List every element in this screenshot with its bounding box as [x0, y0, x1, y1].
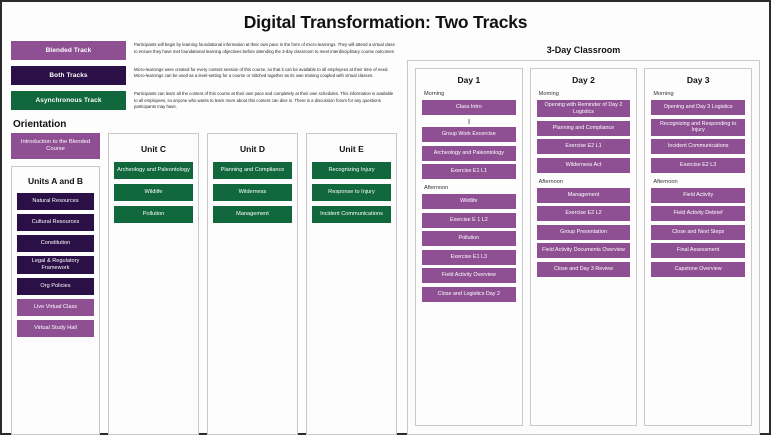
- day-3-afternoon-item-field-activity[interactable]: Field Activity: [651, 188, 745, 203]
- day-1-morning-label: Morning: [424, 91, 516, 97]
- unit-columns: Introduction to the Blended Course Units…: [11, 133, 397, 435]
- unit-card-e: Unit E Recognizing Injury Response to In…: [306, 133, 397, 435]
- classroom-heading: 3-Day Classroom: [407, 41, 760, 60]
- day-2-afternoon-list: Management Exercise E2 L2 Group Presenta…: [537, 188, 631, 277]
- day-3-title: Day 3: [651, 75, 745, 85]
- day-3-morning-list: Opening and Day 3 Logistics Recognizing …: [651, 100, 745, 173]
- unit-c-item-archeology-paleontology[interactable]: Archeology and Paleontology: [114, 162, 193, 179]
- day-3-afternoon-list: Field Activity Field Activity Debrief Cl…: [651, 188, 745, 277]
- day-2-morning-label: Morning: [539, 91, 631, 97]
- units-ab-item-constitution[interactable]: Constitution: [17, 235, 94, 252]
- day-2-afternoon-item-field-activity-documents-overview[interactable]: Field Activity Documents Overview: [537, 243, 631, 258]
- day-3-morning-item-exercise-e2-l3[interactable]: Exercise E2 L3: [651, 158, 745, 173]
- unit-d-title: Unit D: [213, 144, 292, 154]
- orientation-heading: Orientation: [13, 119, 397, 130]
- day-3-afternoon-item-capstone-overview[interactable]: Capstone Overview: [651, 262, 745, 277]
- legend: Blended Track Both Tracks Asynchronous T…: [11, 41, 397, 110]
- day-1-afternoon-item-pollution[interactable]: Pollution: [422, 231, 516, 246]
- right-pane: 3-Day Classroom Day 1 Morning Class Intr…: [407, 41, 760, 435]
- day-2-morning-item-opening-reminder[interactable]: Opening with Reminder of Day 2 Logistics: [537, 100, 631, 117]
- legend-paragraph-asynchronous: Participants can learn all the content o…: [134, 91, 397, 110]
- day-1-morning-item-archeology-paleontology[interactable]: Archeology and Paleontology: [422, 146, 516, 161]
- day-1-morning-item-group-work-excercise[interactable]: Group Work Excercise: [422, 127, 516, 142]
- day-1-afternoon-item-wildlife[interactable]: Wildlife: [422, 194, 516, 209]
- legend-paragraph-both: Micro-learnings were created for every c…: [134, 67, 397, 86]
- legend-paragraph-blended: Participants will begin by learning foun…: [134, 42, 397, 61]
- day-3-morning-item-opening-logistics[interactable]: Opening and Day 3 Logistics: [651, 100, 745, 115]
- day-1-morning-item-exercise-e1-l1[interactable]: Exercise E1 L1: [422, 164, 516, 179]
- page-title: Digital Transformation: Two Tracks: [2, 2, 769, 41]
- units-ab-item-natural-resources[interactable]: Natural Resources: [17, 193, 94, 210]
- legend-descriptions: Participants will begin by learning foun…: [134, 41, 397, 110]
- day-2-morning-item-wilderness-act[interactable]: Wilderness Act: [537, 158, 631, 173]
- day-2-title: Day 2: [537, 75, 631, 85]
- unit-c-title: Unit C: [114, 144, 193, 154]
- day-2-afternoon-label: Afternoon: [539, 179, 631, 185]
- unit-e-title: Unit E: [312, 144, 391, 154]
- units-ab-item-legal-regulatory-framework[interactable]: Legal & Regulatory Framework: [17, 256, 94, 274]
- units-ab-card: Units A and B Natural Resources Cultural…: [11, 166, 100, 435]
- slide-body: Blended Track Both Tracks Asynchronous T…: [2, 41, 769, 435]
- legend-chip-both: Both Tracks: [11, 66, 126, 85]
- unit-d-item-wilderness[interactable]: Wilderness: [213, 184, 292, 201]
- day-3-morning-label: Morning: [653, 91, 745, 97]
- day-1-morning-item-class-intro[interactable]: Class Intro: [422, 100, 516, 115]
- day-card-2: Day 2 Morning Opening with Reminder of D…: [530, 68, 638, 426]
- orientation-column: Introduction to the Blended Course Units…: [11, 133, 100, 435]
- left-pane: Blended Track Both Tracks Asynchronous T…: [11, 41, 397, 435]
- day-2-afternoon-item-close-day-3-review[interactable]: Close and Day 3 Review: [537, 262, 631, 277]
- unit-d-item-management[interactable]: Management: [213, 206, 292, 223]
- units-ab-title: Units A and B: [17, 176, 94, 186]
- units-ab-item-cultural-resources[interactable]: Cultural Resources: [17, 214, 94, 231]
- day-1-morning-list: Class Intro Group Work Excercise Archeol…: [422, 100, 516, 179]
- day-2-afternoon-item-exercise-e2-l2[interactable]: Exercise E2 L2: [537, 206, 631, 221]
- day-2-afternoon-item-group-presentation[interactable]: Group Presentation: [537, 225, 631, 240]
- day-1-afternoon-item-exercise-e1-l2[interactable]: Exercise E 1 L2: [422, 213, 516, 228]
- legend-chips: Blended Track Both Tracks Asynchronous T…: [11, 41, 126, 110]
- day-2-afternoon-item-management[interactable]: Management: [537, 188, 631, 203]
- legend-chip-blended: Blended Track: [11, 41, 126, 60]
- unit-c-item-pollution[interactable]: Pollution: [114, 206, 193, 223]
- classroom-days-container: Day 1 Morning Class Intro Group Work Exc…: [407, 60, 760, 435]
- day-1-afternoon-item-exercise-e1-l3[interactable]: Exercise E1 L3: [422, 250, 516, 265]
- day-3-afternoon-item-field-activity-debrief[interactable]: Field Activity Debrief: [651, 206, 745, 221]
- unit-card-c: Unit C Archeology and Paleontology Wildl…: [108, 133, 199, 435]
- unit-e-item-incident-communications[interactable]: Incident Communications: [312, 206, 391, 223]
- day-3-afternoon-label: Afternoon: [653, 179, 745, 185]
- day-3-afternoon-item-final-assessment[interactable]: Final Assessment: [651, 243, 745, 258]
- day-3-morning-item-incident-communications[interactable]: Incident Communications: [651, 139, 745, 154]
- unit-card-d: Unit D Planning and Compliance Wildernes…: [207, 133, 298, 435]
- unit-d-item-planning-compliance[interactable]: Planning and Compliance: [213, 162, 292, 179]
- day-card-1: Day 1 Morning Class Intro Group Work Exc…: [415, 68, 523, 426]
- day-2-morning-item-planning-compliance[interactable]: Planning and Compliance: [537, 121, 631, 136]
- day-1-afternoon-label: Afternoon: [424, 185, 516, 191]
- unit-e-item-recognizing-injury[interactable]: Recognizing Injury: [312, 162, 391, 179]
- flow-connector-icon: [422, 119, 516, 124]
- day-1-afternoon-item-close-logistics-day-2[interactable]: Close and Logistics Day 2: [422, 287, 516, 302]
- day-1-afternoon-item-field-activity-overview[interactable]: Field Activity Overview: [422, 268, 516, 283]
- day-1-afternoon-list: Wildlife Exercise E 1 L2 Pollution Exerc…: [422, 194, 516, 302]
- units-ab-item-live-virtual-class[interactable]: Live Virtual Class: [17, 299, 94, 316]
- day-2-morning-item-exercise-e2-l1[interactable]: Exercise E2 L1: [537, 139, 631, 154]
- day-card-3: Day 3 Morning Opening and Day 3 Logistic…: [644, 68, 752, 426]
- day-3-afternoon-item-close-next-steps[interactable]: Close and Next Steps: [651, 225, 745, 240]
- orientation-item-intro[interactable]: Introduction to the Blended Course: [11, 133, 100, 159]
- day-1-title: Day 1: [422, 75, 516, 85]
- unit-c-item-wildlife[interactable]: Wildlife: [114, 184, 193, 201]
- units-ab-item-virtual-study-hall[interactable]: Virtual Study Hall: [17, 320, 94, 337]
- day-3-morning-item-recognizing-responding-injury[interactable]: Recognizing and Responding to Injury: [651, 119, 745, 136]
- day-2-morning-list: Opening with Reminder of Day 2 Logistics…: [537, 100, 631, 173]
- unit-e-item-response-to-injury[interactable]: Response to Injury: [312, 184, 391, 201]
- units-ab-item-org-policies[interactable]: Org Policies: [17, 278, 94, 295]
- legend-chip-asynchronous: Asynchronous Track: [11, 91, 126, 110]
- slide-canvas: Digital Transformation: Two Tracks Blend…: [0, 0, 771, 435]
